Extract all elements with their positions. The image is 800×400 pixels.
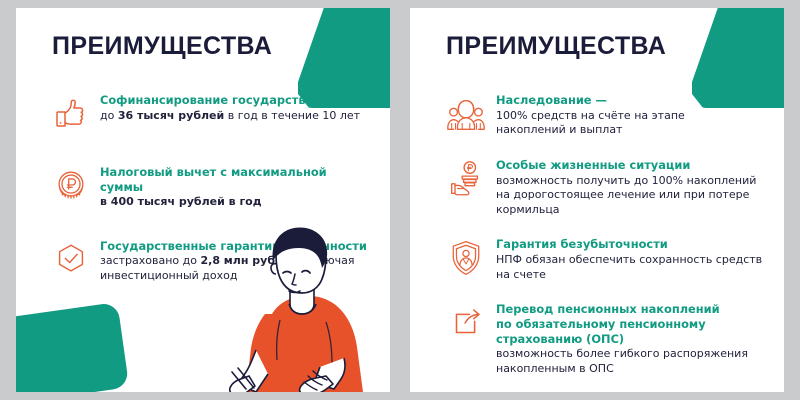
slide-panel-right: ПРЕИМУЩЕСТВА [410,8,784,392]
page-title-right: ПРЕИМУЩЕСТВА [446,34,666,59]
list-item-text: Гарантия безубыточности НПФ обязан обесп… [496,234,762,282]
body-pre: застраховано до [100,254,200,267]
shield-person-icon [442,234,490,282]
body-line1: возможность получить до 100% накоплений [496,174,756,187]
decorative-green-blob-left [16,302,129,392]
list-item-text: Налоговый вычет с максимальной суммы в 4… [100,162,372,210]
body-bold: в 400 тысяч рублей в год [100,195,262,208]
list-item: Перевод пенсионных накопленийпо обязател… [442,299,766,376]
thumbs-up-icon [48,90,94,136]
body-line3: кормильца [496,203,560,216]
list-item-body: в 400 тысяч рублей в год [100,195,372,210]
export-arrow-icon [442,299,490,347]
body-line1: 100% средств на счёте на этапе [496,109,685,122]
list-item: Особые жизненные ситуации возможность по… [442,155,766,217]
body-line2: накоплений и выплат [496,123,622,136]
slide-panel-left: ПРЕИМУЩЕСТВА Софинансирование государств… [16,8,390,392]
list-item-text: Софинансирование государства до 36 тысяч… [100,90,360,123]
body-line2: на дорогостоящее лечение или при потере [496,188,749,201]
list-item-text: Особые жизненные ситуации возможность по… [496,155,756,217]
list-item-heading: Перевод пенсионных накопленийпо обязател… [496,302,748,346]
heading-line1: Перевод пенсионных накоплений [496,302,720,316]
body-line2: накопленным в ОПС [496,362,614,375]
heading-line2: по обязательному пенсионному [496,317,706,331]
list-item-heading: Софинансирование государства [100,93,360,108]
body-line1: возможность более гибкого распоряжения [496,347,748,360]
list-item-heading: Налоговый вычет с максимальной суммы [100,165,372,194]
family-group-icon [442,90,490,138]
body-line1: НПФ обязан обеспечить сохранность средст… [496,253,762,266]
list-item: Наследование — 100% средств на счёте на … [442,90,766,138]
list-item-heading: Особые жизненные ситуации [496,158,756,173]
page-title-left: ПРЕИМУЩЕСТВА [52,34,272,59]
body-pre: до [100,109,118,122]
list-item: Налоговый вычет с максимальной суммы в 4… [48,162,372,210]
body-line2: на счете [496,268,546,281]
benefit-list-right: Наследование — 100% средств на счёте на … [442,90,766,392]
ruble-coin-icon [48,162,94,208]
list-item-heading: Гарантия безубыточности [496,237,762,252]
list-item: Софинансирование государства до 36 тысяч… [48,90,372,136]
hexagon-check-icon [48,236,94,282]
body-bold: 36 тысяч рублей [118,109,224,122]
slide-stage: ПРЕИМУЩЕСТВА Софинансирование государств… [0,0,800,400]
man-writing-illustration [194,222,390,392]
list-item-body: до 36 тысяч рублей в год в течение 10 ле… [100,109,360,124]
list-item-body: возможность более гибкого распоряженияна… [496,347,748,376]
list-item-body: возможность получить до 100% накопленийн… [496,174,756,218]
list-item-text: Перевод пенсионных накопленийпо обязател… [496,299,748,376]
list-item-body: 100% средств на счёте на этапенакоплений… [496,109,685,138]
hand-coins-icon [442,155,490,203]
body-post: в год в течение 10 лет [224,109,360,122]
list-item-heading: Наследование — [496,93,685,108]
heading-line3: страхованию (ОПС) [496,332,624,346]
list-item-text: Наследование — 100% средств на счёте на … [496,90,685,138]
list-item-body: НПФ обязан обеспечить сохранность средст… [496,253,762,282]
list-item: Гарантия безубыточности НПФ обязан обесп… [442,234,766,282]
